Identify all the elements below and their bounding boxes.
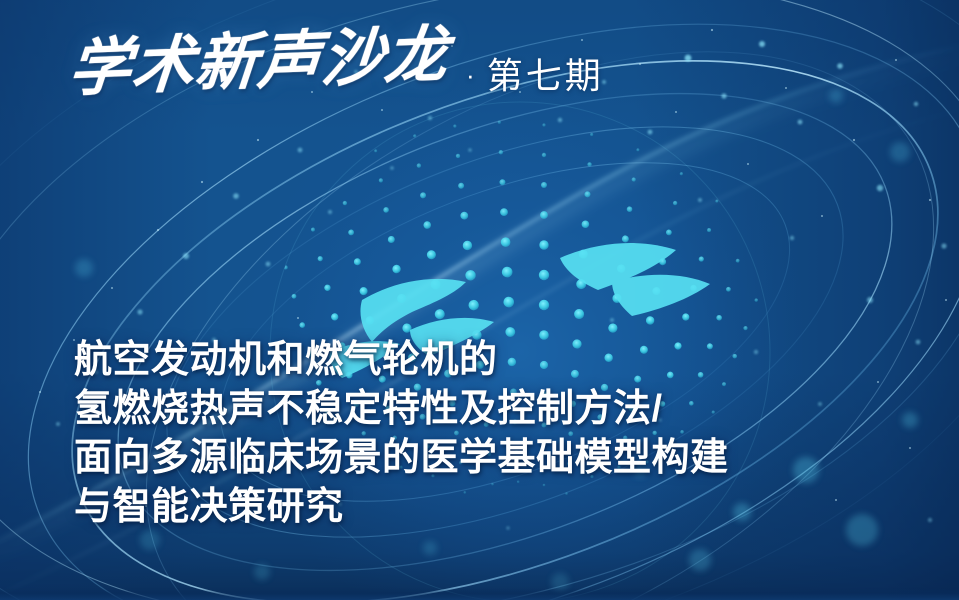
bottom-edge-highlight <box>0 588 959 600</box>
brand-header: 学术新声沙龙 · 第七期 <box>66 38 604 100</box>
brandmark-calligraphy: 学术新声沙龙 <box>66 23 457 100</box>
headline-line-1: 航空发动机和燃气轮机的 <box>74 336 894 385</box>
headline-line-2: 氢燃烧热声不稳定特性及控制方法/ <box>74 385 894 434</box>
poster-canvas: 学术新声沙龙 · 第七期 航空发动机和燃气轮机的 氢燃烧热声不稳定特性及控制方法… <box>0 0 959 600</box>
edition-label: 第七期 <box>487 58 604 100</box>
brand-separator-dot: · <box>452 62 485 100</box>
headline-block: 航空发动机和燃气轮机的 氢燃烧热声不稳定特性及控制方法/ 面向多源临床场景的医学… <box>74 336 894 532</box>
headline-line-3: 面向多源临床场景的医学基础模型构建 <box>74 434 894 483</box>
headline-line-4: 与智能决策研究 <box>74 483 894 532</box>
